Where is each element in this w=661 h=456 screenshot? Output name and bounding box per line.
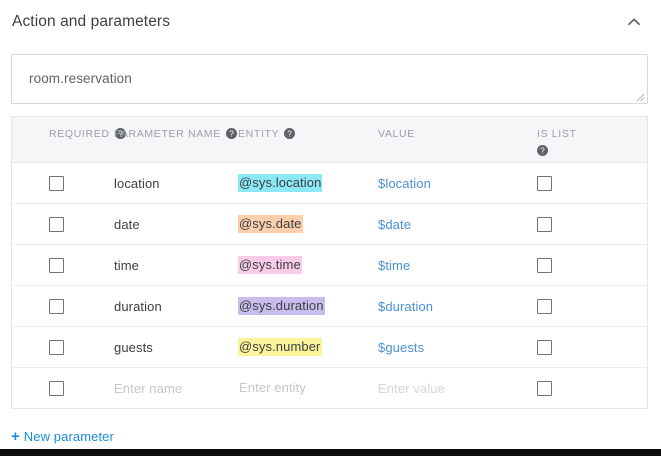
plus-icon: + (11, 429, 20, 444)
column-header-value-label: VALUE (378, 128, 415, 141)
row-is-list-cell (518, 368, 647, 408)
value-text: $date (378, 217, 411, 232)
column-header-entity-label: ENTITY (238, 128, 279, 141)
table-row: location @sys.location $location (12, 163, 647, 204)
table-row: time @sys.time $time (12, 245, 647, 286)
table-row: guests @sys.number $guests (12, 327, 647, 368)
action-and-parameters-panel: Action and parameters room.reservation R… (0, 0, 661, 449)
help-icon[interactable]: ? (226, 128, 237, 139)
table-header-row: REQUIRED ? PARAMETER NAME ? (12, 117, 647, 163)
value-placeholder: Enter value (378, 381, 445, 396)
row-parameter-name-cell[interactable]: guests (100, 327, 238, 367)
row-required-cell (12, 327, 100, 367)
column-header-required: REQUIRED ? (12, 117, 100, 162)
svg-text:?: ? (288, 129, 293, 138)
row-required-cell (12, 163, 100, 203)
action-name-textarea[interactable]: room.reservation (11, 54, 648, 104)
row-entity-cell[interactable]: @sys.duration (238, 286, 378, 326)
column-header-parameter-name-label: PARAMETER NAME (114, 128, 221, 141)
row-required-cell (12, 286, 100, 326)
column-header-entity: ENTITY ? (238, 117, 378, 162)
is-list-checkbox[interactable] (537, 176, 552, 191)
entity-chip[interactable]: @sys.date (238, 215, 303, 234)
chevron-up-icon[interactable] (621, 9, 647, 35)
is-list-checkbox[interactable] (537, 340, 552, 355)
required-checkbox[interactable] (49, 340, 64, 355)
column-header-is-list: IS LIST ? (518, 117, 647, 162)
panel-header: Action and parameters (0, 0, 661, 44)
required-checkbox[interactable] (49, 176, 64, 191)
parameter-name-text: time (114, 258, 139, 273)
new-parameter-button[interactable]: + New parameter (11, 429, 114, 444)
parameter-name-text: duration (114, 299, 162, 314)
table-row: duration @sys.duration $duration (12, 286, 647, 327)
row-parameter-name-cell[interactable]: location (100, 163, 238, 203)
row-is-list-cell (518, 286, 647, 326)
required-checkbox[interactable] (49, 299, 64, 314)
resize-handle-icon[interactable] (634, 91, 645, 102)
help-icon[interactable]: ? (537, 145, 548, 156)
is-list-checkbox[interactable] (537, 217, 552, 232)
required-checkbox[interactable] (49, 381, 64, 396)
row-is-list-cell (518, 163, 647, 203)
is-list-checkbox[interactable] (537, 258, 552, 273)
svg-text:?: ? (229, 129, 234, 138)
row-parameter-name-cell[interactable]: duration (100, 286, 238, 326)
row-is-list-cell (518, 245, 647, 285)
row-required-cell (12, 204, 100, 244)
row-value-cell[interactable]: $guests (378, 327, 518, 367)
new-value-input[interactable]: Enter value (378, 368, 518, 408)
row-value-cell[interactable]: $date (378, 204, 518, 244)
new-entity-input[interactable]: Enter entity (238, 368, 378, 408)
parameter-name-text: guests (114, 340, 153, 355)
row-parameter-name-cell[interactable]: time (100, 245, 238, 285)
row-required-cell (12, 368, 100, 408)
parameter-name-placeholder: Enter name (114, 381, 182, 396)
entity-chip[interactable]: @sys.time (238, 256, 302, 275)
row-entity-cell[interactable]: @sys.time (238, 245, 378, 285)
column-header-value: VALUE (378, 117, 518, 162)
action-name-value: room.reservation (29, 71, 132, 86)
entity-placeholder: Enter entity (238, 379, 307, 398)
entity-chip[interactable]: @sys.location (238, 174, 322, 193)
column-header-is-list-label: IS LIST (537, 128, 577, 141)
row-value-cell[interactable]: $duration (378, 286, 518, 326)
new-parameter-name-input[interactable]: Enter name (100, 368, 238, 408)
table-row-new: Enter name Enter entity Enter value (12, 368, 647, 409)
new-parameter-label: New parameter (24, 429, 114, 444)
value-text: $guests (378, 340, 424, 355)
row-value-cell[interactable]: $location (378, 163, 518, 203)
is-list-checkbox[interactable] (537, 381, 552, 396)
row-is-list-cell (518, 327, 647, 367)
value-text: $duration (378, 299, 433, 314)
page-title: Action and parameters (12, 13, 170, 31)
row-entity-cell[interactable]: @sys.number (238, 327, 378, 367)
row-is-list-cell (518, 204, 647, 244)
required-checkbox[interactable] (49, 258, 64, 273)
is-list-checkbox[interactable] (537, 299, 552, 314)
required-checkbox[interactable] (49, 217, 64, 232)
column-header-parameter-name: PARAMETER NAME ? (100, 117, 238, 162)
row-entity-cell[interactable]: @sys.location (238, 163, 378, 203)
entity-chip[interactable]: @sys.number (238, 338, 322, 357)
parameter-name-text: location (114, 176, 160, 191)
row-value-cell[interactable]: $time (378, 245, 518, 285)
help-icon[interactable]: ? (284, 128, 295, 139)
row-parameter-name-cell[interactable]: date (100, 204, 238, 244)
bottom-bar (0, 449, 661, 456)
entity-chip[interactable]: @sys.duration (238, 297, 325, 316)
svg-text:?: ? (540, 146, 545, 155)
parameters-table: REQUIRED ? PARAMETER NAME ? (11, 116, 648, 409)
row-required-cell (12, 245, 100, 285)
row-entity-cell[interactable]: @sys.date (238, 204, 378, 244)
parameter-name-text: date (114, 217, 140, 232)
value-text: $time (378, 258, 410, 273)
value-text: $location (378, 176, 431, 191)
table-row: date @sys.date $date (12, 204, 647, 245)
